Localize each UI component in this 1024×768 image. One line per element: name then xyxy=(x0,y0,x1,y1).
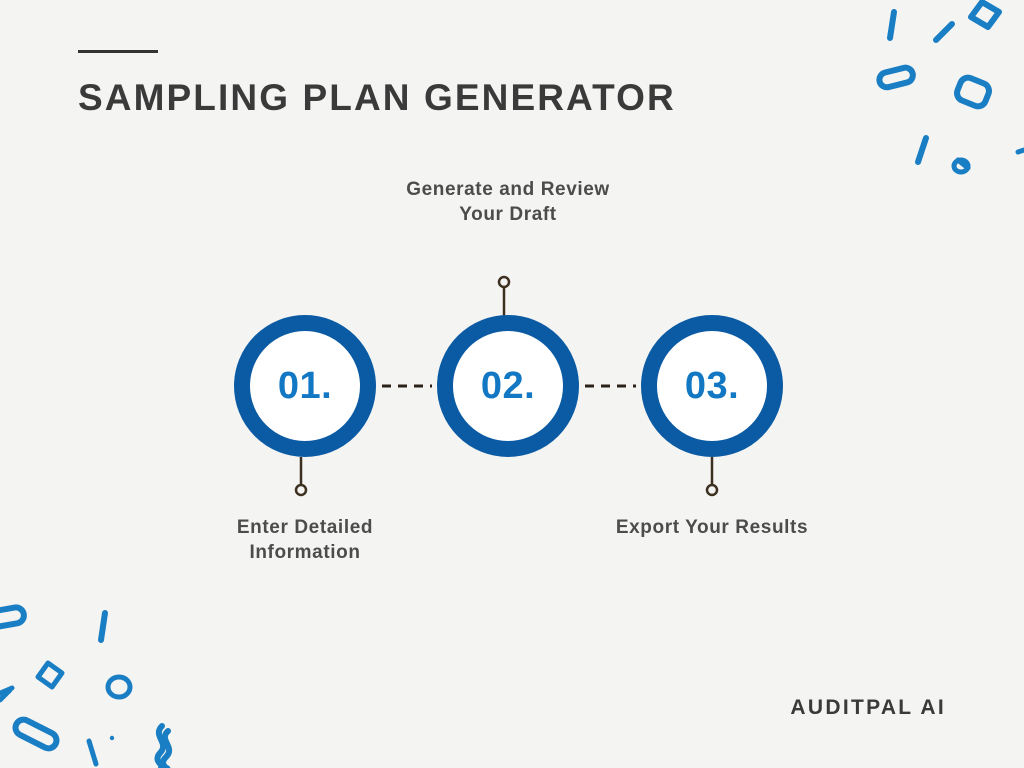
timeline-step-3-label: Export Your Results xyxy=(592,515,832,540)
timeline-step-1-label: Enter Detailed Information xyxy=(185,515,425,565)
timeline-node-1-number: 01. xyxy=(278,367,332,405)
timeline-node-1[interactable]: 01. xyxy=(234,315,376,457)
stem-endpoint-3 xyxy=(707,485,717,495)
timeline-step-2-label: Generate and Review Your Draft xyxy=(388,177,628,227)
stem-endpoint-2 xyxy=(499,277,509,287)
timeline-node-2-number: 02. xyxy=(481,367,535,405)
timeline-node-3[interactable]: 03. xyxy=(641,315,783,457)
timeline-node-3-number: 03. xyxy=(685,367,739,405)
timeline-node-2[interactable]: 02. xyxy=(437,315,579,457)
stem-endpoint-1 xyxy=(296,485,306,495)
slide-canvas: SAMPLING PLAN GENERATOR 01. 02. 03. Ente… xyxy=(0,0,1024,768)
brand-wordmark: AUDITPAL AI xyxy=(790,696,946,720)
